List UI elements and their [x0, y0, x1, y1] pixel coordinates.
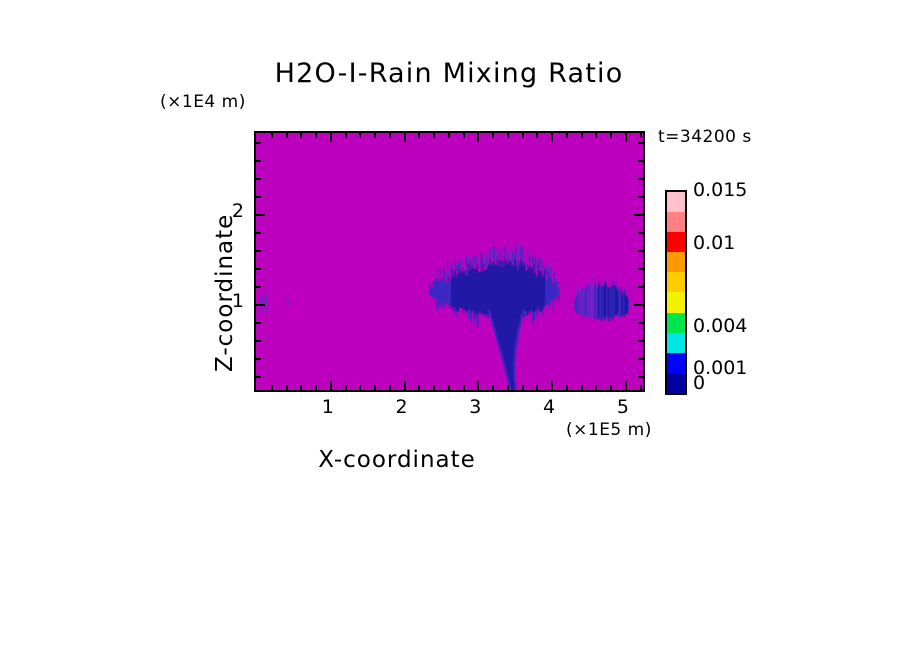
- colorbar-band: [667, 252, 685, 272]
- colorbar-band: [667, 353, 685, 373]
- field-render-wrapper: [256, 133, 643, 390]
- axis-tick: [374, 385, 376, 390]
- axis-tick: [463, 385, 465, 390]
- axis-tick: [271, 133, 273, 138]
- axis-tick: [566, 385, 568, 390]
- colorbar-band: [667, 313, 685, 333]
- axis-tick: [448, 133, 450, 138]
- x-axis-title: X-coordinate: [0, 447, 849, 473]
- axis-tick: [536, 133, 538, 138]
- axis-tick: [581, 133, 583, 138]
- axis-tick: [345, 385, 347, 390]
- axis-tick: [286, 133, 288, 138]
- axis-tick: [551, 133, 553, 142]
- x-tick-label: 5: [603, 396, 643, 418]
- colorbar-band: [667, 192, 685, 212]
- figure-canvas: H2O-I-Rain Mixing Ratio (×1E4 m) t=34200…: [0, 0, 904, 654]
- colorbar-band: [667, 292, 685, 312]
- axis-tick: [477, 381, 479, 390]
- axis-tick: [389, 133, 391, 138]
- colorbar-band: [667, 232, 685, 252]
- axis-tick: [625, 381, 627, 390]
- axis-tick: [300, 385, 302, 390]
- axis-tick: [595, 385, 597, 390]
- x-tick-label: 2: [382, 396, 422, 418]
- axis-tick: [256, 214, 265, 216]
- axis-tick: [536, 385, 538, 390]
- axis-tick: [345, 133, 347, 138]
- colorbar: [665, 190, 687, 395]
- axis-tick: [315, 133, 317, 138]
- axis-tick: [256, 304, 265, 306]
- axis-tick: [404, 133, 406, 142]
- axis-tick: [256, 250, 261, 252]
- axis-tick: [256, 358, 261, 360]
- axis-tick: [463, 133, 465, 138]
- axis-tick: [551, 381, 553, 390]
- time-annotation: t=34200 s: [658, 127, 752, 147]
- axis-tick: [638, 340, 643, 342]
- axis-tick: [359, 385, 361, 390]
- axis-tick: [492, 133, 494, 138]
- axis-tick: [638, 232, 643, 234]
- axis-tick: [286, 385, 288, 390]
- axis-tick: [374, 133, 376, 138]
- axis-tick: [522, 385, 524, 390]
- axis-tick: [256, 178, 261, 180]
- axis-tick: [300, 133, 302, 138]
- x-axis-unit-label: (×1E5 m): [566, 420, 652, 440]
- axis-tick: [638, 250, 643, 252]
- axis-tick: [256, 286, 261, 288]
- axis-tick: [418, 133, 420, 138]
- axis-tick: [507, 385, 509, 390]
- axis-tick: [581, 385, 583, 390]
- y-axis-title: Z-coordinate: [212, 214, 238, 372]
- axis-tick: [566, 133, 568, 138]
- axis-tick: [638, 160, 643, 162]
- rain-mixing-ratio-field: [256, 133, 643, 390]
- axis-tick: [638, 358, 643, 360]
- axis-tick: [640, 385, 642, 390]
- axis-tick: [638, 142, 643, 144]
- axis-tick: [522, 133, 524, 138]
- colorbar-band: [667, 212, 685, 232]
- axis-tick: [638, 178, 643, 180]
- x-tick-label: 3: [455, 396, 495, 418]
- axis-tick: [315, 385, 317, 390]
- y-axis-unit-label: (×1E4 m): [160, 92, 246, 112]
- axis-tick: [389, 385, 391, 390]
- axis-tick: [610, 385, 612, 390]
- axis-tick: [638, 286, 643, 288]
- axis-tick: [256, 268, 261, 270]
- axis-tick: [330, 381, 332, 390]
- axis-tick: [492, 385, 494, 390]
- axis-tick: [256, 322, 261, 324]
- axis-tick: [638, 376, 643, 378]
- axis-tick: [256, 142, 261, 144]
- axis-tick: [448, 385, 450, 390]
- axis-tick: [404, 381, 406, 390]
- colorbar-tick-label: 0.004: [693, 315, 747, 337]
- axis-tick: [638, 196, 643, 198]
- x-tick-label: 4: [529, 396, 569, 418]
- chart-title: H2O-I-Rain Mixing Ratio: [0, 58, 901, 89]
- axis-tick: [433, 385, 435, 390]
- axis-tick: [330, 133, 332, 142]
- colorbar-band: [667, 272, 685, 292]
- axis-tick: [477, 133, 479, 142]
- axis-tick: [638, 322, 643, 324]
- axis-tick: [634, 214, 643, 216]
- x-tick-label: 1: [308, 396, 348, 418]
- axis-tick: [256, 340, 261, 342]
- axis-tick: [256, 196, 261, 198]
- axis-tick: [256, 160, 261, 162]
- axis-tick: [418, 385, 420, 390]
- axis-tick: [640, 133, 642, 138]
- axis-tick: [634, 304, 643, 306]
- axis-tick: [359, 133, 361, 138]
- colorbar-band: [667, 333, 685, 353]
- axis-tick: [433, 133, 435, 138]
- colorbar-band: [667, 373, 685, 393]
- axis-tick: [256, 376, 261, 378]
- axis-tick: [638, 268, 643, 270]
- axis-tick: [625, 133, 627, 142]
- axis-tick: [271, 385, 273, 390]
- colorbar-tick-label: 0.01: [693, 232, 735, 254]
- contour-plot-area: [254, 131, 645, 392]
- colorbar-tick-label: 0: [693, 372, 705, 394]
- axis-tick: [256, 232, 261, 234]
- axis-tick: [595, 133, 597, 138]
- colorbar-tick-label: 0.015: [693, 179, 747, 201]
- axis-tick: [610, 133, 612, 138]
- axis-tick: [507, 133, 509, 138]
